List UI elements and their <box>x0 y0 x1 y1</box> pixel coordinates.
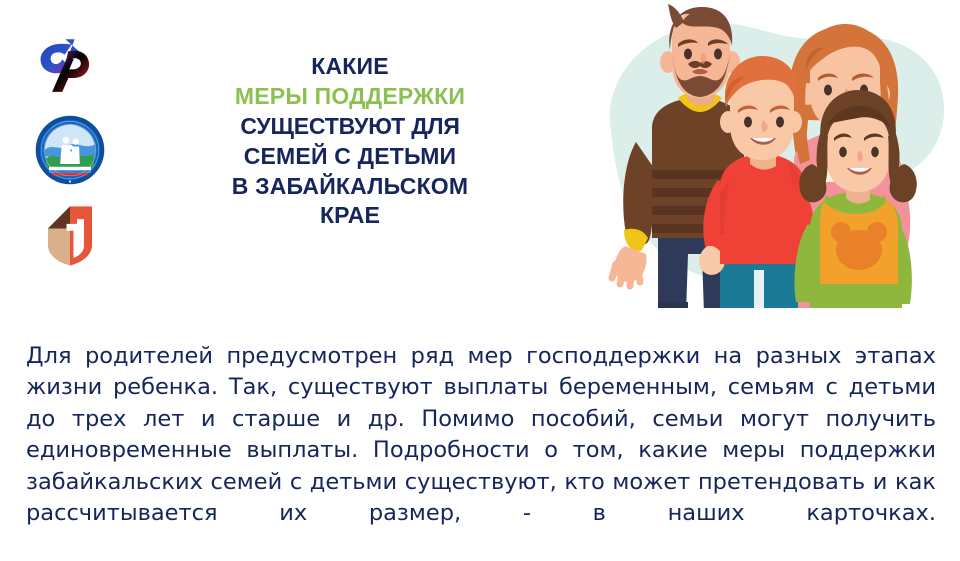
title-line-5: В ЗАБАЙКАЛЬСКОМ <box>150 172 550 202</box>
logo-column <box>22 28 118 272</box>
shield-logo <box>30 200 110 272</box>
title-line-2: МЕРЫ ПОДДЕРЖКИ <box>150 82 550 112</box>
title-line-1: КАКИЕ <box>150 52 550 82</box>
title-line-4: СЕМЕЙ С ДЕТЬМИ <box>150 142 550 172</box>
title-line-3: СУЩЕСТВУЮТ ДЛЯ <box>150 112 550 142</box>
poster-title: КАКИЕ МЕРЫ ПОДДЕРЖКИ СУЩЕСТВУЮТ ДЛЯ СЕМЕ… <box>150 52 550 231</box>
family-illustration <box>592 2 960 314</box>
sfr-logo <box>30 28 110 100</box>
body-paragraph: Для родителей предусмотрен ряд мер госпо… <box>26 341 936 561</box>
poster-canvas: КАКИЕ МЕРЫ ПОДДЕРЖКИ СУЩЕСТВУЮТ ДЛЯ СЕМЕ… <box>0 0 960 540</box>
title-line-6: КРАЕ <box>150 201 550 231</box>
ministry-emblem <box>30 114 110 186</box>
